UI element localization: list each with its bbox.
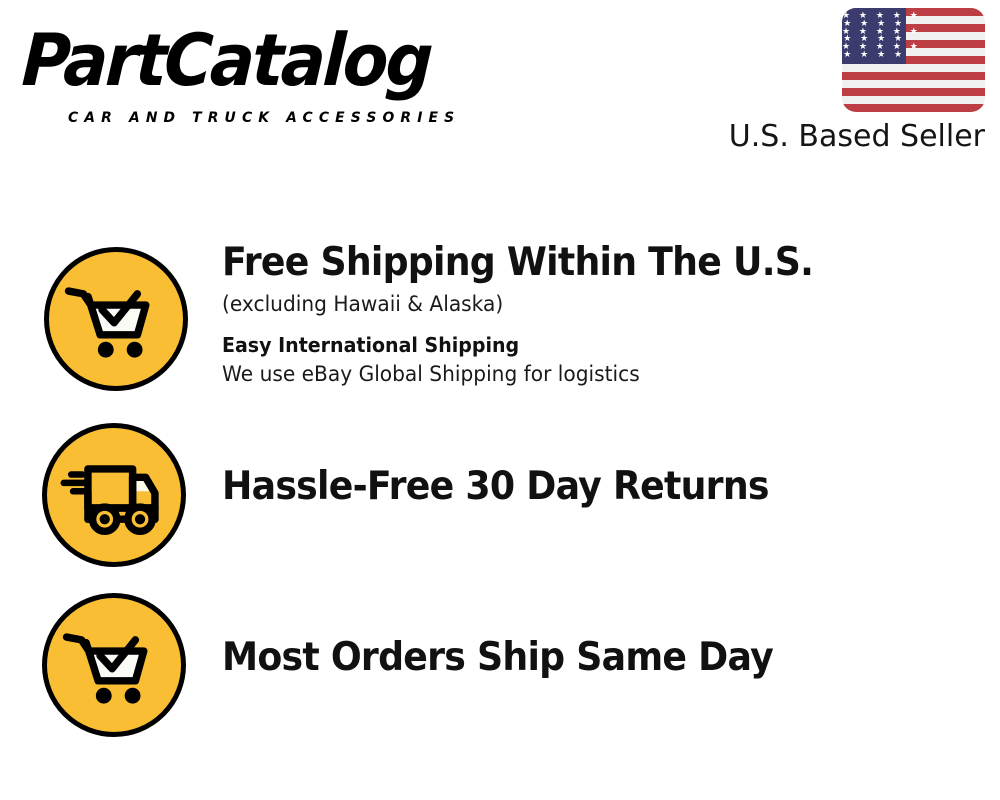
seller-badge-label: U.S. Based Seller: [725, 120, 985, 154]
feature-text: Most Orders Ship Same Day: [222, 635, 992, 681]
feature-text: Hassle-Free 30 Day Returns: [222, 464, 992, 510]
brand-logo[interactable]: PartCatalog CAR AND TRUCK ACCESSORIES: [24, 22, 494, 114]
feature-note: (excluding Hawaii & Alaska): [222, 291, 961, 317]
seller-badge: ★ ★ ★ ★ ★ ★ ★ ★ ★ ★ ★ ★ ★ ★ ★ ★ ★ ★ ★ ★ …: [725, 8, 985, 154]
delivery-truck-icon: [42, 423, 186, 567]
shopping-cart-check-icon: [44, 247, 188, 391]
flag-canton: ★ ★ ★ ★ ★ ★ ★ ★ ★ ★ ★ ★ ★ ★ ★ ★ ★ ★ ★ ★ …: [842, 8, 906, 64]
page-header: PartCatalog CAR AND TRUCK ACCESSORIES: [0, 0, 1000, 170]
feature-sub-note: We use eBay Global Shipping for logistic…: [222, 361, 961, 388]
feature-sub-title: Easy International Shipping: [222, 333, 954, 358]
feature-row: Hassle-Free 30 Day Returns: [0, 418, 1000, 586]
feature-row: Most Orders Ship Same Day: [0, 589, 1000, 757]
feature-title: Free Shipping Within The U.S.: [222, 240, 938, 286]
brand-tagline: CAR AND TRUCK ACCESSORIES: [68, 110, 460, 126]
feature-title: Hassle-Free 30 Day Returns: [222, 464, 938, 510]
us-flag-icon: ★ ★ ★ ★ ★ ★ ★ ★ ★ ★ ★ ★ ★ ★ ★ ★ ★ ★ ★ ★ …: [842, 8, 985, 112]
shopping-cart-check-icon: [42, 593, 186, 737]
brand-wordmark: PartCatalog: [20, 22, 432, 98]
feature-title: Most Orders Ship Same Day: [222, 635, 938, 681]
feature-row: Free Shipping Within The U.S. (excluding…: [0, 240, 1000, 410]
feature-text: Free Shipping Within The U.S. (excluding…: [222, 240, 992, 388]
